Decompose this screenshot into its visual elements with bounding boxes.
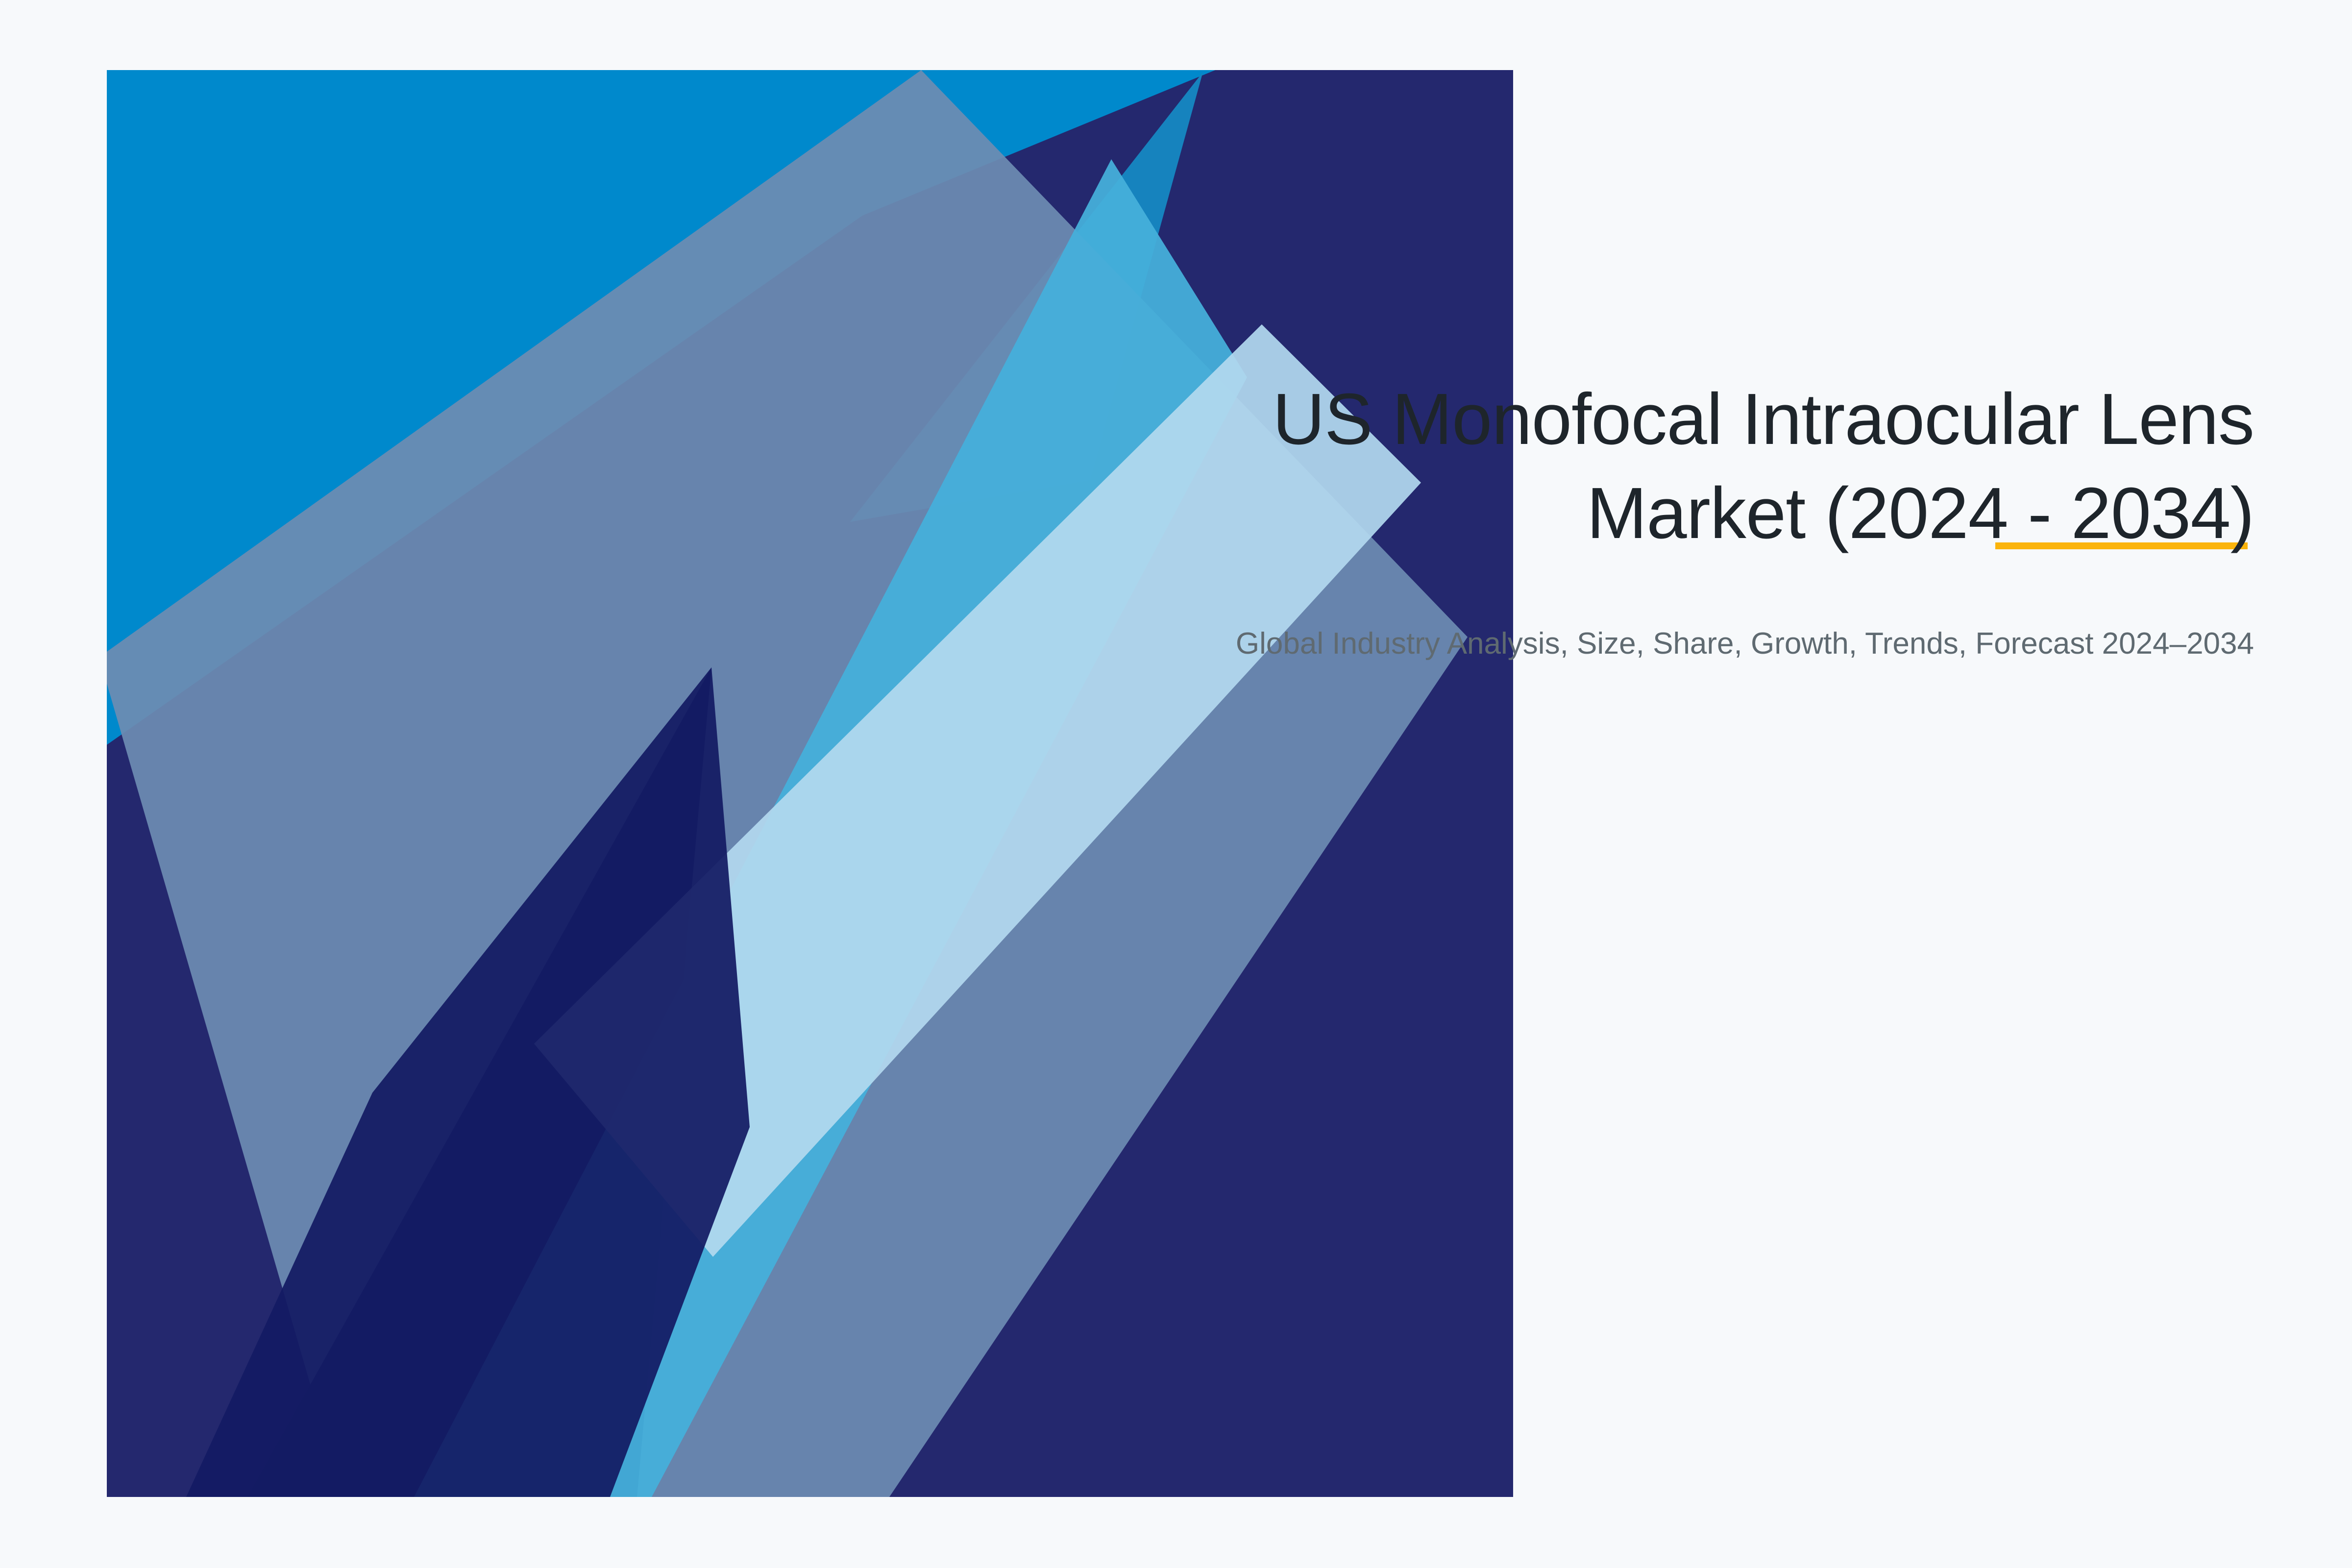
page-subtitle: Global Industry Analysis, Size, Share, G… (1068, 623, 2254, 665)
abstract-geometric-artwork (0, 0, 2352, 1568)
page-title: US Monofocal Intraocular Lens Market (20… (1068, 372, 2254, 561)
title-wrapper: US Monofocal Intraocular Lens Market (20… (1068, 372, 2254, 561)
cover-text-block: US Monofocal Intraocular Lens Market (20… (1068, 372, 2254, 664)
report-cover-page: US Monofocal Intraocular Lens Market (20… (0, 0, 2352, 1568)
